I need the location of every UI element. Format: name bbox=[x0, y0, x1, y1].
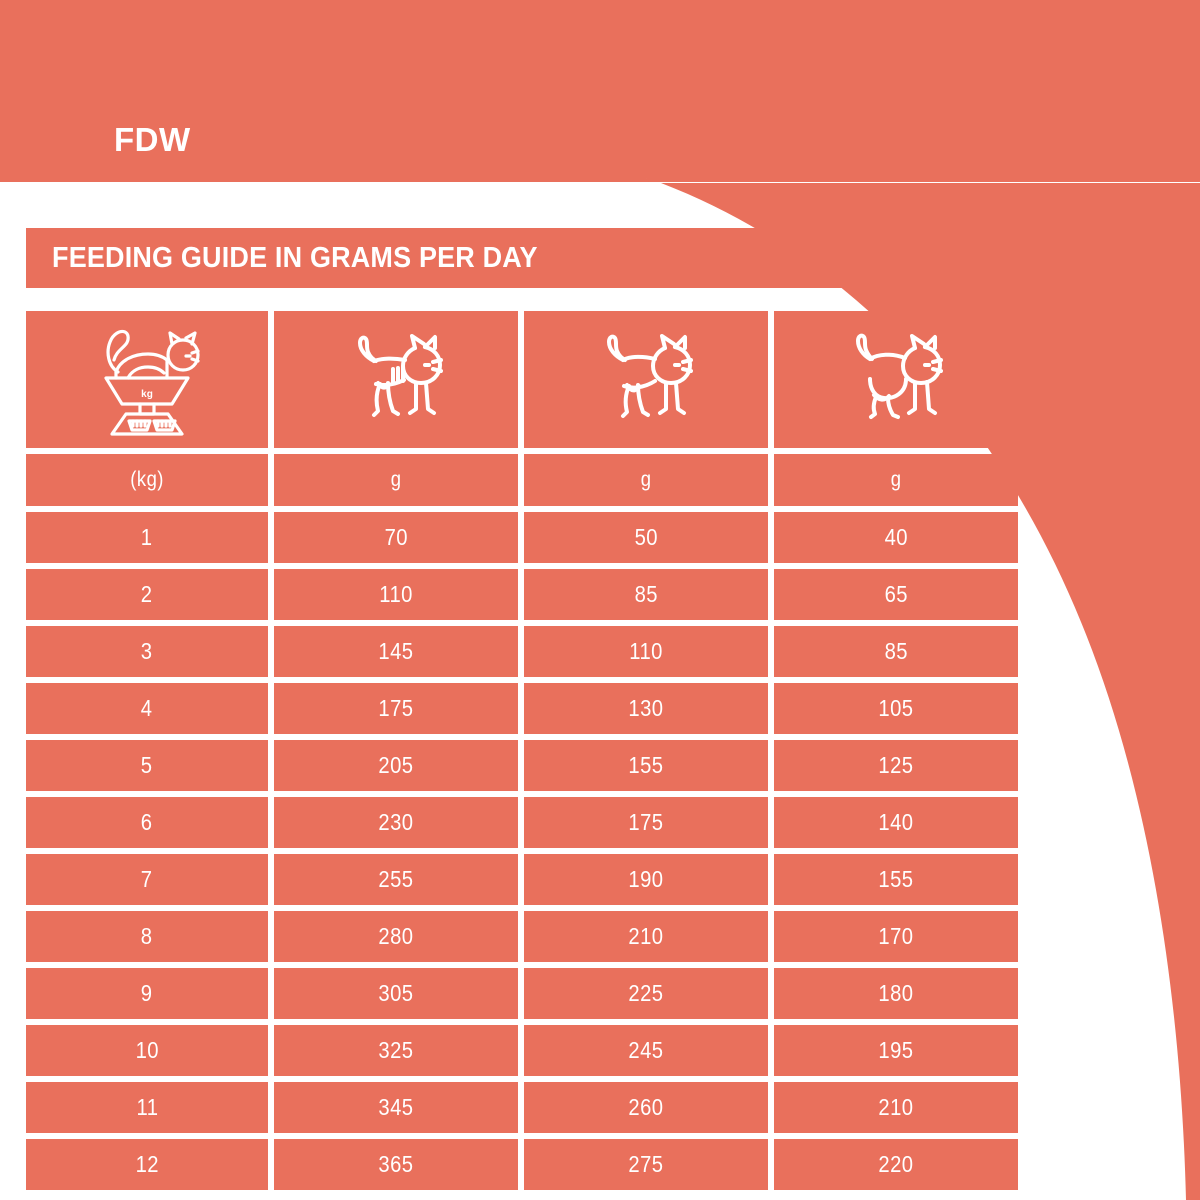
cell-value: 7 bbox=[141, 866, 153, 893]
cell-value: 175 bbox=[628, 809, 663, 836]
table-header-icon-row: kg bbox=[26, 311, 1018, 448]
cell-value: 210 bbox=[878, 1094, 913, 1121]
table-row: 11345260210 bbox=[26, 1082, 1018, 1133]
feeding-guide-table: kg bbox=[26, 311, 1018, 1190]
svg-text:kg: kg bbox=[141, 389, 153, 400]
table-row: 6230175140 bbox=[26, 797, 1018, 848]
cell-ideal: 130 bbox=[524, 683, 768, 734]
cell-ideal: 245 bbox=[524, 1025, 768, 1076]
cell-weight: 2 bbox=[26, 569, 268, 620]
cell-thin: 280 bbox=[274, 911, 518, 962]
unit-label-weight: (kg) bbox=[130, 468, 164, 492]
cell-value: 8 bbox=[141, 923, 153, 950]
table-row: 314511085 bbox=[26, 626, 1018, 677]
cell-thin: 110 bbox=[274, 569, 518, 620]
cell-value: 230 bbox=[378, 809, 413, 836]
cell-thin: 345 bbox=[274, 1082, 518, 1133]
cell-value: 280 bbox=[378, 923, 413, 950]
table-row: 1705040 bbox=[26, 512, 1018, 563]
cell-value: 125 bbox=[878, 752, 913, 779]
table-row: 12365275220 bbox=[26, 1139, 1018, 1190]
cell-ideal: 85 bbox=[524, 569, 768, 620]
cell-value: 205 bbox=[378, 752, 413, 779]
cell-value: 180 bbox=[878, 980, 913, 1007]
unit-cell-weight: (kg) bbox=[26, 454, 268, 506]
feeding-guide: FEEDING GUIDE IN GRAMS PER DAY bbox=[26, 228, 1018, 1190]
unit-label-heavy: g bbox=[891, 468, 902, 492]
table-units-row: (kg) g g g bbox=[26, 454, 1018, 506]
cell-thin: 205 bbox=[274, 740, 518, 791]
cat-on-scale-icon: kg bbox=[26, 311, 268, 448]
table-row: 8280210170 bbox=[26, 911, 1018, 962]
cell-weight: 9 bbox=[26, 968, 268, 1019]
table-row: 7255190155 bbox=[26, 854, 1018, 905]
cell-heavy: 195 bbox=[774, 1025, 1018, 1076]
cell-ideal: 175 bbox=[524, 797, 768, 848]
cell-weight: 7 bbox=[26, 854, 268, 905]
cell-heavy: 210 bbox=[774, 1082, 1018, 1133]
cell-heavy: 220 bbox=[774, 1139, 1018, 1190]
unit-cell-heavy: g bbox=[774, 454, 1018, 506]
cell-ideal: 50 bbox=[524, 512, 768, 563]
cell-value: 365 bbox=[378, 1151, 413, 1178]
table-row: 10325245195 bbox=[26, 1025, 1018, 1076]
cell-thin: 325 bbox=[274, 1025, 518, 1076]
cell-weight: 5 bbox=[26, 740, 268, 791]
cell-value: 155 bbox=[628, 752, 663, 779]
cell-value: 255 bbox=[378, 866, 413, 893]
cell-thin: 255 bbox=[274, 854, 518, 905]
table-row: 5205155125 bbox=[26, 740, 1018, 791]
cell-value: 305 bbox=[378, 980, 413, 1007]
cell-value: 10 bbox=[135, 1037, 158, 1064]
table-row: 4175130105 bbox=[26, 683, 1018, 734]
cell-value: 175 bbox=[378, 695, 413, 722]
cell-value: 325 bbox=[378, 1037, 413, 1064]
cell-value: 1 bbox=[141, 524, 153, 551]
cell-heavy: 65 bbox=[774, 569, 1018, 620]
cell-value: 110 bbox=[379, 581, 413, 608]
cell-weight: 6 bbox=[26, 797, 268, 848]
cell-value: 85 bbox=[884, 638, 907, 665]
cell-value: 70 bbox=[384, 524, 407, 551]
unit-cell-ideal: g bbox=[524, 454, 768, 506]
cell-value: 85 bbox=[634, 581, 657, 608]
cell-value: 170 bbox=[878, 923, 913, 950]
cell-value: 12 bbox=[135, 1151, 158, 1178]
cell-value: 155 bbox=[878, 866, 913, 893]
cell-value: 9 bbox=[141, 980, 153, 1007]
table-row: 9305225180 bbox=[26, 968, 1018, 1019]
cell-value: 220 bbox=[878, 1151, 913, 1178]
cell-value: 225 bbox=[628, 980, 663, 1007]
cell-value: 3 bbox=[141, 638, 153, 665]
cell-weight: 11 bbox=[26, 1082, 268, 1133]
cell-heavy: 140 bbox=[774, 797, 1018, 848]
brand-logo-text: FDW bbox=[114, 123, 191, 156]
cell-value: 345 bbox=[378, 1094, 413, 1121]
cell-value: 130 bbox=[628, 695, 663, 722]
cell-thin: 230 bbox=[274, 797, 518, 848]
cell-heavy: 125 bbox=[774, 740, 1018, 791]
cell-weight: 1 bbox=[26, 512, 268, 563]
cell-value: 11 bbox=[136, 1094, 158, 1121]
cell-weight: 10 bbox=[26, 1025, 268, 1076]
cell-value: 190 bbox=[628, 866, 663, 893]
cell-ideal: 110 bbox=[524, 626, 768, 677]
overweight-cat-icon bbox=[774, 311, 1018, 448]
cell-heavy: 170 bbox=[774, 911, 1018, 962]
cell-thin: 145 bbox=[274, 626, 518, 677]
cell-thin: 365 bbox=[274, 1139, 518, 1190]
cell-heavy: 40 bbox=[774, 512, 1018, 563]
cell-value: 260 bbox=[628, 1094, 663, 1121]
cell-value: 275 bbox=[628, 1151, 663, 1178]
cell-heavy: 105 bbox=[774, 683, 1018, 734]
cell-ideal: 225 bbox=[524, 968, 768, 1019]
cell-value: 245 bbox=[628, 1037, 663, 1064]
cell-thin: 305 bbox=[274, 968, 518, 1019]
cell-value: 40 bbox=[884, 524, 907, 551]
cell-ideal: 275 bbox=[524, 1139, 768, 1190]
cell-heavy: 180 bbox=[774, 968, 1018, 1019]
cell-ideal: 190 bbox=[524, 854, 768, 905]
cell-value: 145 bbox=[378, 638, 413, 665]
cell-heavy: 155 bbox=[774, 854, 1018, 905]
cell-weight: 3 bbox=[26, 626, 268, 677]
cell-ideal: 260 bbox=[524, 1082, 768, 1133]
cell-value: 50 bbox=[634, 524, 657, 551]
table-row: 21108565 bbox=[26, 569, 1018, 620]
cell-value: 140 bbox=[878, 809, 913, 836]
unit-label-ideal: g bbox=[641, 468, 652, 492]
cell-ideal: 210 bbox=[524, 911, 768, 962]
thin-cat-icon bbox=[274, 311, 518, 448]
cell-value: 195 bbox=[878, 1037, 913, 1064]
cell-thin: 70 bbox=[274, 512, 518, 563]
cell-value: 5 bbox=[141, 752, 153, 779]
cell-heavy: 85 bbox=[774, 626, 1018, 677]
cell-weight: 8 bbox=[26, 911, 268, 962]
cell-value: 6 bbox=[141, 809, 153, 836]
unit-cell-thin: g bbox=[274, 454, 518, 506]
cell-value: 2 bbox=[141, 581, 153, 608]
cell-value: 105 bbox=[878, 695, 913, 722]
cell-value: 65 bbox=[884, 581, 907, 608]
ideal-cat-icon bbox=[524, 311, 768, 448]
feeding-guide-title: FEEDING GUIDE IN GRAMS PER DAY bbox=[26, 228, 1017, 288]
cell-weight: 12 bbox=[26, 1139, 268, 1190]
cell-value: 110 bbox=[629, 638, 663, 665]
feeding-guide-title-bar: FEEDING GUIDE IN GRAMS PER DAY bbox=[26, 228, 1018, 288]
cell-weight: 4 bbox=[26, 683, 268, 734]
cell-thin: 175 bbox=[274, 683, 518, 734]
cell-value: 4 bbox=[141, 695, 153, 722]
feeding-guide-page: FDW FEEDING GUIDE IN GRAMS PER DAY bbox=[0, 0, 1200, 1200]
brand-tab: FDW bbox=[0, 0, 330, 182]
unit-label-thin: g bbox=[391, 468, 402, 492]
table-body: 1705040211085653145110854175130105520515… bbox=[26, 512, 1018, 1190]
cell-ideal: 155 bbox=[524, 740, 768, 791]
cell-value: 210 bbox=[628, 923, 663, 950]
